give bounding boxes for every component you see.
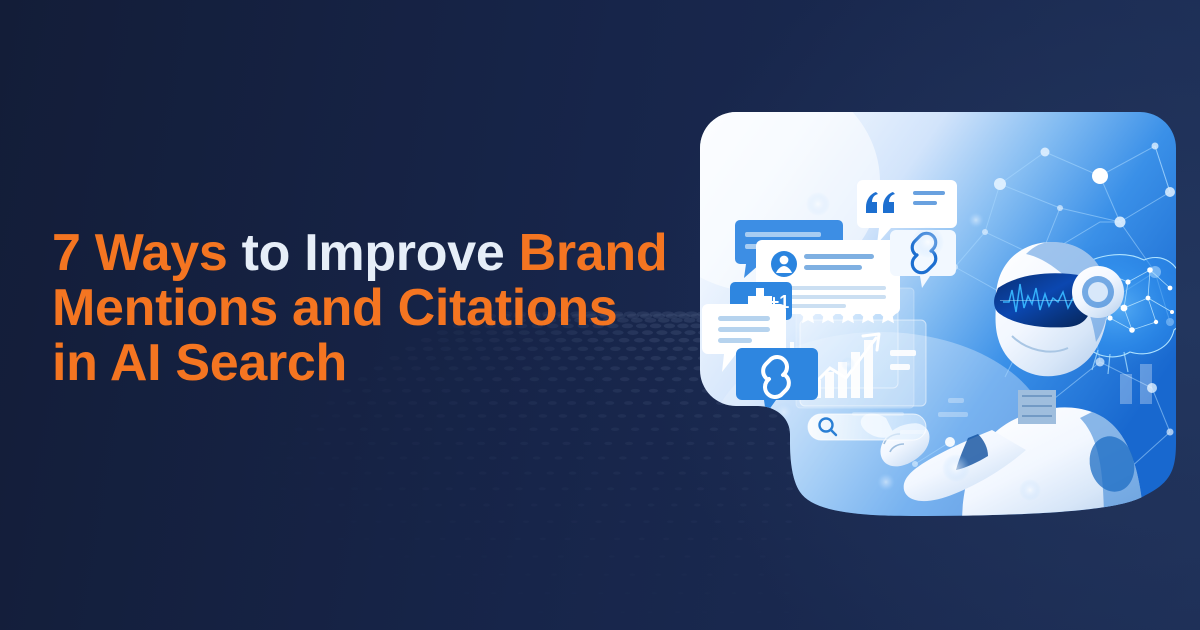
page-title: 7 Ways to Improve Brand Mentions and Cit… — [52, 226, 692, 391]
title-line2: Mentions and Citations — [52, 279, 617, 337]
illustration-card: +1 — [700, 112, 1176, 524]
title-line1-accent: 7 Ways — [52, 224, 242, 282]
hero-illustration: +1 — [700, 112, 1176, 524]
search-bar[interactable] — [808, 414, 926, 440]
title-line3: in AI Search — [52, 334, 347, 392]
title-line1-light: to Improve — [242, 224, 519, 282]
title-line1-accent2: Brand — [519, 224, 668, 282]
banner-root: 7 Ways to Improve Brand Mentions and Cit… — [0, 0, 1200, 630]
